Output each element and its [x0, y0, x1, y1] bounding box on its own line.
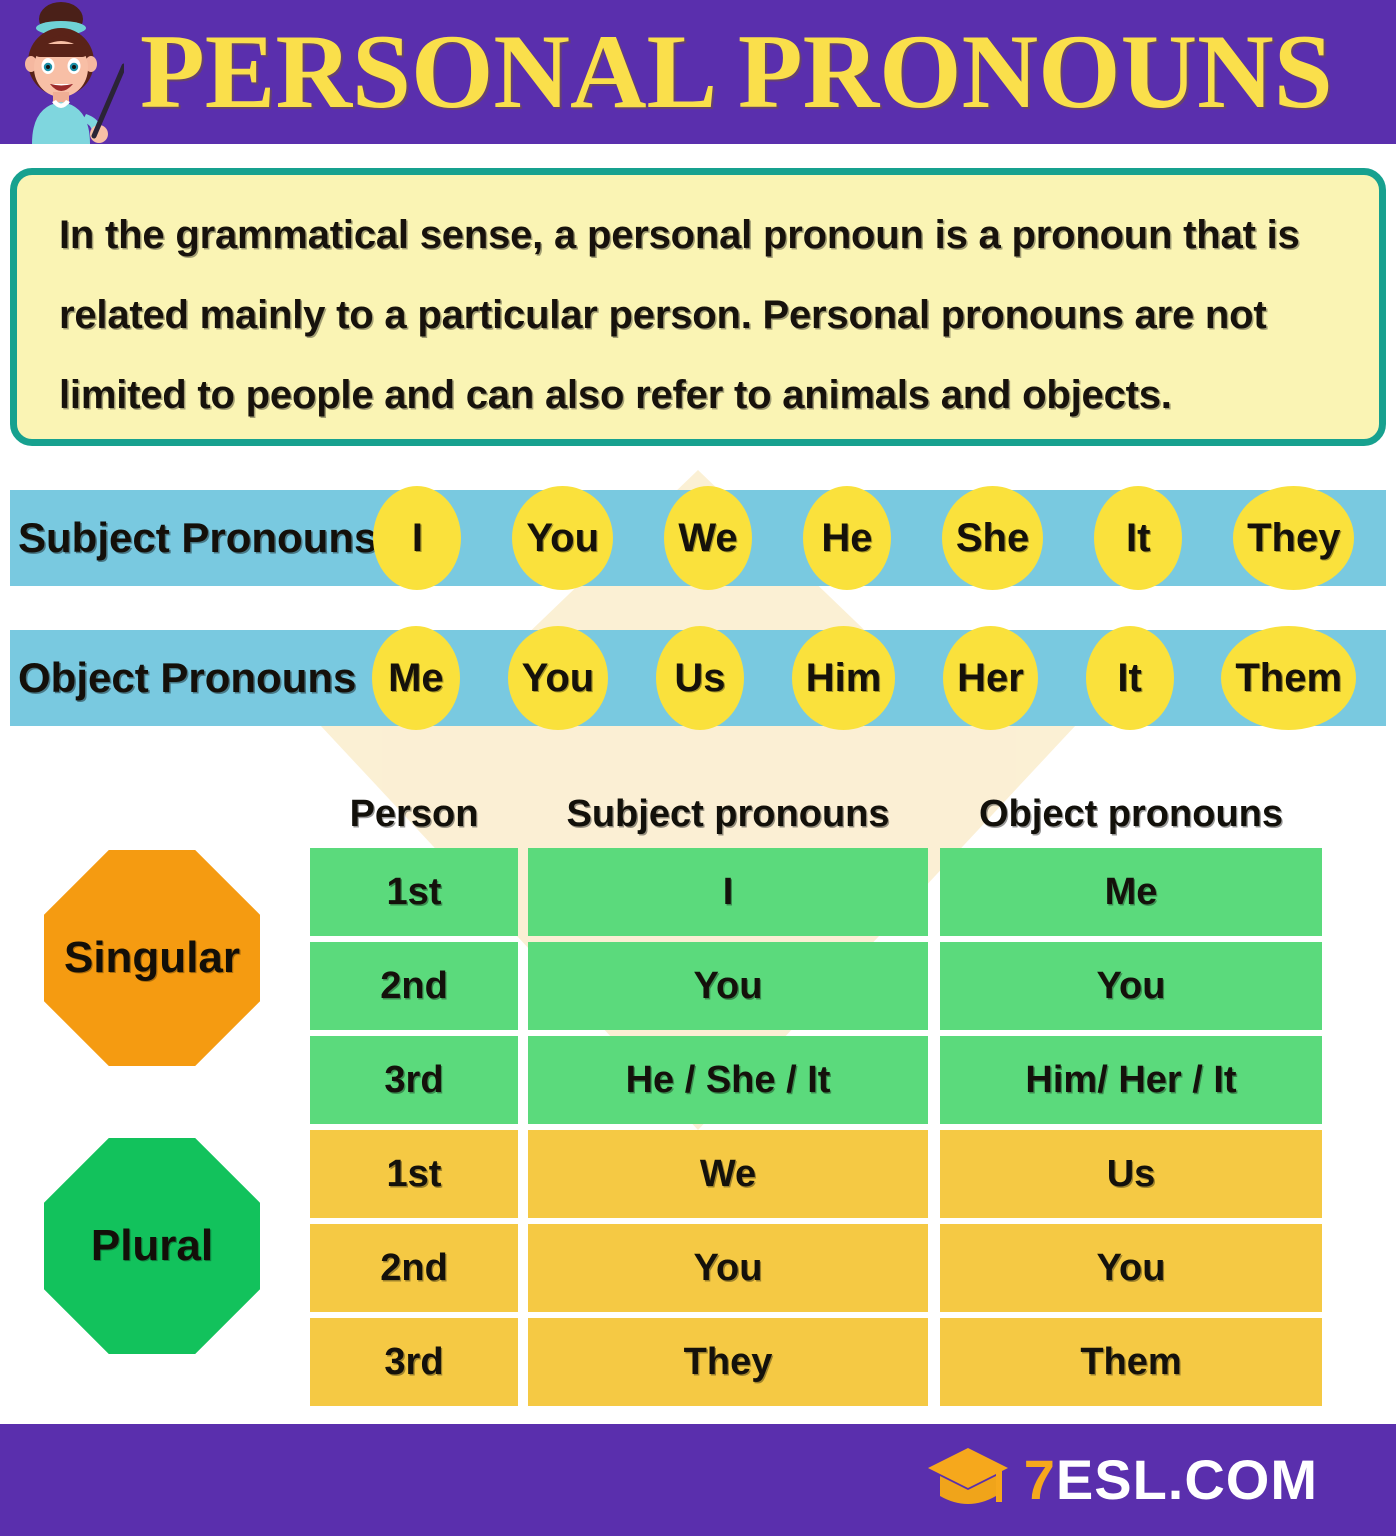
teacher-icon: [6, 2, 124, 144]
definition-text: In the grammatical sense, a personal pro…: [59, 195, 1339, 435]
pronoun-chip: Us: [656, 626, 744, 730]
pronoun-chip: He: [803, 486, 891, 590]
pronoun-chip: They: [1233, 486, 1354, 590]
table-row: 2nd You You: [310, 942, 1322, 1030]
table-header-row: Person Subject pronouns Object pronouns: [310, 780, 1322, 848]
cell-subject: He / She / It: [528, 1036, 928, 1124]
pronoun-chip: Her: [943, 626, 1038, 730]
pronoun-table: Person Subject pronouns Object pronouns …: [310, 780, 1322, 1412]
cell-subject: We: [528, 1130, 928, 1218]
table-row: 1st We Us: [310, 1130, 1322, 1218]
cell-person: 2nd: [310, 1224, 518, 1312]
cell-object: Him/ Her / It: [940, 1036, 1322, 1124]
logo-text: 7ESL.COM: [1024, 1447, 1318, 1512]
site-logo[interactable]: 7ESL.COM: [926, 1442, 1318, 1516]
page-title: PERSONAL PRONOUNS: [140, 8, 1390, 136]
subject-pronouns-chips: I You We He She It They: [348, 490, 1386, 586]
pronoun-chip: I: [373, 486, 461, 590]
pronoun-chip: You: [512, 486, 613, 590]
subject-pronouns-band: Subject Pronouns I You We He She It They: [10, 490, 1386, 586]
cell-object: Us: [940, 1130, 1322, 1218]
pronoun-chip: We: [664, 486, 752, 590]
cell-object: You: [940, 942, 1322, 1030]
object-pronouns-band: Object Pronouns Me You Us Him Her It The…: [10, 630, 1386, 726]
pronoun-chip: She: [942, 486, 1043, 590]
graduation-cap-icon: [926, 1444, 1010, 1514]
table-row: 3rd He / She / It Him/ Her / It: [310, 1036, 1322, 1124]
table-row: 1st I Me: [310, 848, 1322, 936]
cell-subject: You: [528, 1224, 928, 1312]
column-header-person: Person: [310, 793, 518, 836]
logo-domain: ESL.COM: [1056, 1448, 1318, 1511]
cell-object: You: [940, 1224, 1322, 1312]
cell-subject: They: [528, 1318, 928, 1406]
cell-subject: I: [528, 848, 928, 936]
pronoun-chip: It: [1094, 486, 1182, 590]
logo-seven: 7: [1024, 1448, 1056, 1511]
pronoun-table-section: Singular Plural Person Subject pronouns …: [0, 780, 1396, 1400]
definition-box: In the grammatical sense, a personal pro…: [10, 168, 1386, 446]
subject-pronouns-label: Subject Pronouns: [18, 514, 348, 562]
table-row: 3rd They Them: [310, 1318, 1322, 1406]
table-row: 2nd You You: [310, 1224, 1322, 1312]
pronoun-chip: Me: [372, 626, 460, 730]
singular-badge: Singular: [44, 850, 260, 1066]
cell-person: 3rd: [310, 1036, 518, 1124]
object-pronouns-chips: Me You Us Him Her It Them: [348, 630, 1386, 726]
column-header-object: Object pronouns: [940, 793, 1322, 836]
header-bar: PERSONAL PRONOUNS: [0, 0, 1396, 144]
footer-bar: 7ESL.COM: [0, 1424, 1396, 1536]
cell-person: 3rd: [310, 1318, 518, 1406]
plural-badge: Plural: [44, 1138, 260, 1354]
cell-object: Them: [940, 1318, 1322, 1406]
cell-object: Me: [940, 848, 1322, 936]
pronoun-chip: Him: [792, 626, 896, 730]
pronoun-chip: It: [1086, 626, 1174, 730]
cell-person: 1st: [310, 1130, 518, 1218]
number-badges: Singular Plural: [44, 850, 266, 1354]
pronoun-chip: Them: [1221, 626, 1356, 730]
cell-person: 2nd: [310, 942, 518, 1030]
cell-person: 1st: [310, 848, 518, 936]
object-pronouns-label: Object Pronouns: [18, 654, 348, 702]
cell-subject: You: [528, 942, 928, 1030]
column-header-subject: Subject pronouns: [528, 793, 928, 836]
pronoun-chip: You: [508, 626, 609, 730]
